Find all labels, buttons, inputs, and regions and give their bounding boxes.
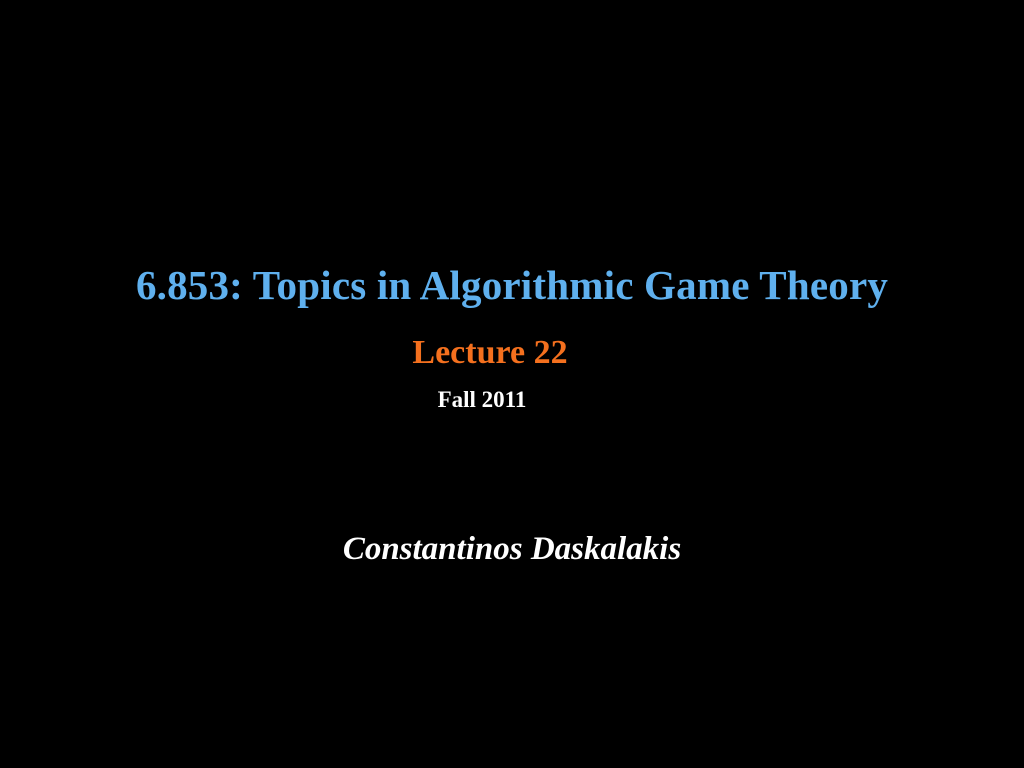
lecture-subtitle: Lecture 22 — [0, 335, 1024, 371]
author-name: Constantinos Daskalakis — [0, 532, 1024, 567]
term-label: Fall 2011 — [0, 388, 1024, 412]
presentation-slide: 6.853: Topics in Algorithmic Game Theory… — [0, 0, 1024, 768]
page-title: 6.853: Topics in Algorithmic Game Theory — [0, 264, 1024, 307]
